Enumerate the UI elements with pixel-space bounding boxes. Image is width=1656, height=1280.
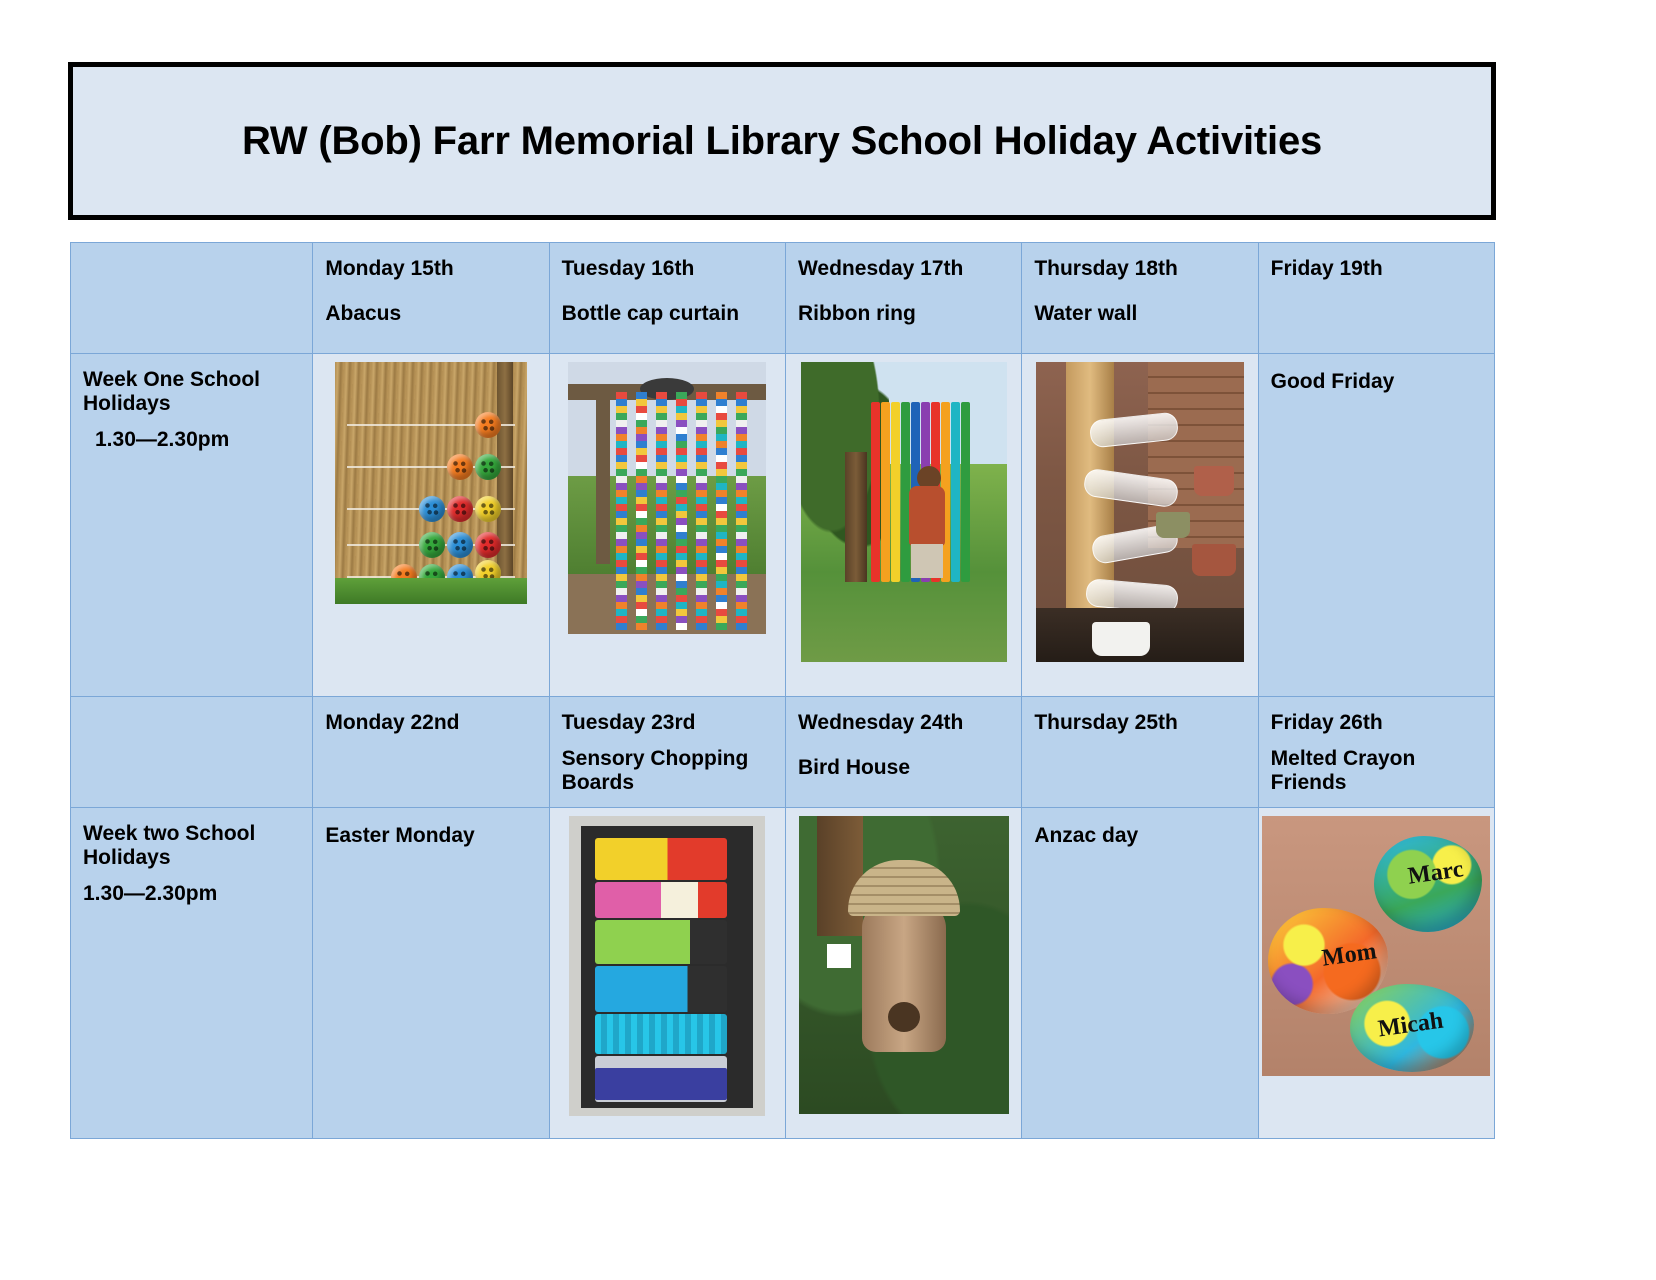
week-one-label-cell: Week One School Holidays 1.30—2.30pm bbox=[71, 354, 313, 697]
cell-friday-19-note: Good Friday bbox=[1258, 354, 1494, 697]
abacus-photo bbox=[335, 362, 527, 604]
cell-tuesday-23-photo bbox=[549, 808, 785, 1139]
week-two-label: Week two School Holidays bbox=[83, 822, 300, 870]
cell-wednesday-24-photo bbox=[785, 808, 1021, 1139]
activities-table: Monday 15th Abacus Tuesday 16th Bottle c… bbox=[70, 242, 1495, 1139]
page-canvas: RW (Bob) Farr Memorial Library School Ho… bbox=[0, 0, 1656, 1280]
week-one-content-row: Week One School Holidays 1.30—2.30pm bbox=[71, 354, 1495, 697]
day-activity: Sensory Chopping Boards bbox=[562, 747, 773, 795]
day-activity: Bird House bbox=[798, 756, 1009, 780]
cell-monday-15-photo bbox=[313, 354, 549, 697]
melted-crayon-friends-photo: Mom Marc Micah bbox=[1262, 816, 1490, 1076]
bird-house-photo bbox=[799, 816, 1009, 1114]
day-date: Monday 15th bbox=[325, 257, 536, 281]
day-header-friday-26: Friday 26th Melted Crayon Friends bbox=[1258, 697, 1494, 808]
cell-tuesday-16-photo bbox=[549, 354, 785, 697]
day-date: Thursday 25th bbox=[1034, 711, 1245, 735]
day-date: Wednesday 17th bbox=[798, 257, 1009, 281]
day-header-wednesday-24: Wednesday 24th Bird House bbox=[785, 697, 1021, 808]
cell-thursday-18-photo bbox=[1022, 354, 1258, 697]
day-header-thursday-25: Thursday 25th bbox=[1022, 697, 1258, 808]
corner-cell bbox=[71, 243, 313, 354]
bottle-cap-curtain-photo bbox=[568, 362, 766, 634]
day-date: Monday 22nd bbox=[325, 711, 536, 735]
week-one-day-header-row: Monday 15th Abacus Tuesday 16th Bottle c… bbox=[71, 243, 1495, 354]
cell-wednesday-17-photo bbox=[785, 354, 1021, 697]
week-one-label: Week One School Holidays bbox=[83, 368, 300, 416]
day-activity: Bottle cap curtain bbox=[562, 302, 773, 326]
cell-thursday-25-note: Anzac day bbox=[1022, 808, 1258, 1139]
day-header-thursday-18: Thursday 18th Water wall bbox=[1022, 243, 1258, 354]
week-two-time: 1.30—2.30pm bbox=[83, 882, 300, 906]
holiday-note: Easter Monday bbox=[325, 824, 536, 848]
cell-friday-26-photo: Mom Marc Micah bbox=[1258, 808, 1494, 1139]
day-activity: Water wall bbox=[1034, 302, 1245, 326]
cell-monday-22-note: Easter Monday bbox=[313, 808, 549, 1139]
sensory-chopping-boards-photo bbox=[569, 816, 765, 1116]
day-date: Friday 19th bbox=[1271, 257, 1482, 281]
day-activity: Ribbon ring bbox=[798, 302, 1009, 326]
week-one-time: 1.30—2.30pm bbox=[83, 428, 300, 452]
day-date: Tuesday 16th bbox=[562, 257, 773, 281]
day-date: Thursday 18th bbox=[1034, 257, 1245, 281]
water-wall-photo bbox=[1036, 362, 1244, 662]
week-two-content-row: Week two School Holidays 1.30—2.30pm Eas… bbox=[71, 808, 1495, 1139]
day-header-wednesday-17: Wednesday 17th Ribbon ring bbox=[785, 243, 1021, 354]
day-date: Friday 26th bbox=[1271, 711, 1482, 735]
day-header-monday-22: Monday 22nd bbox=[313, 697, 549, 808]
day-activity: Abacus bbox=[325, 302, 536, 326]
week-two-day-header-row: Monday 22nd Tuesday 23rd Sensory Choppin… bbox=[71, 697, 1495, 808]
day-header-tuesday-16: Tuesday 16th Bottle cap curtain bbox=[549, 243, 785, 354]
page-title: RW (Bob) Farr Memorial Library School Ho… bbox=[242, 119, 1322, 163]
week-two-label-cell: Week two School Holidays 1.30—2.30pm bbox=[71, 808, 313, 1139]
day-activity: Melted Crayon Friends bbox=[1271, 747, 1482, 795]
day-header-friday-19: Friday 19th bbox=[1258, 243, 1494, 354]
holiday-note: Anzac day bbox=[1034, 824, 1245, 848]
day-header-monday-15: Monday 15th Abacus bbox=[313, 243, 549, 354]
ribbon-ring-photo bbox=[801, 362, 1007, 662]
day-date: Tuesday 23rd bbox=[562, 711, 773, 735]
day-header-tuesday-23: Tuesday 23rd Sensory Chopping Boards bbox=[549, 697, 785, 808]
day-date: Wednesday 24th bbox=[798, 711, 1009, 735]
corner-cell-2 bbox=[71, 697, 313, 808]
holiday-note: Good Friday bbox=[1271, 370, 1482, 394]
title-banner: RW (Bob) Farr Memorial Library School Ho… bbox=[68, 62, 1496, 220]
